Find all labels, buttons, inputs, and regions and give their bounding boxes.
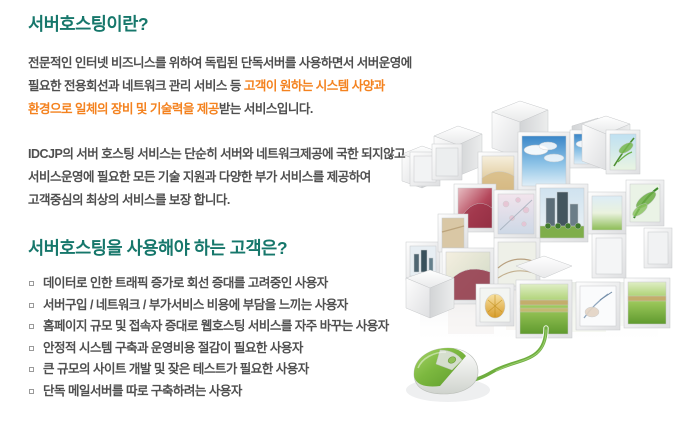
square-bullet-icon (29, 389, 34, 394)
intro-paragraph-1: 전문적인 인터넷 비즈니스를 위하여 독립된 단독서버를 사용하면서 서버운영에… (28, 52, 458, 121)
square-bullet-icon (29, 346, 34, 351)
cube-blank-far-right (644, 228, 672, 268)
intro-p1-line-3-plain: 받는 서비스입니다. (219, 102, 313, 116)
section-title-who-should-use: 서버호스팅을 사용해야 하는 고객은? (28, 238, 458, 259)
list-item-label: 홈페이지 규모 및 접속자 증대로 웹호스팅 서비스를 자주 바꾸는 사용자 (43, 319, 389, 333)
intro-p1-line-1: 전문적인 인터넷 비즈니스를 위하여 독립된 단독서버를 사용하면서 서버운영에 (28, 52, 458, 75)
list-item: 서버구입 / 네트워크 / 부가서비스 비용에 부담을 느끼는 사용자 (28, 295, 458, 317)
tile-cherry-blossom (494, 190, 538, 238)
intro-p2-line-1: IDCJP의 서버 호스팅 서비스는 단순히 서버와 네트워크제공에 국한 되지… (28, 143, 458, 166)
target-customer-list: 데이터로 인한 트래픽 증가로 회선 증대를 고려중인 사용자 서버구입 / 네… (28, 273, 458, 402)
intro-p2-line-3: 고객중심의 최상의 서비스를 보장 합니다. (28, 189, 458, 212)
tile-grass-right (624, 278, 670, 328)
list-item-label: 단독 메일서버를 따로 구축하려는 사용자 (43, 384, 242, 398)
list-item: 데이터로 인한 트래픽 증가로 회선 증대를 고려중인 사용자 (28, 273, 458, 295)
tile-blue-sky-clouds (518, 132, 570, 190)
list-item: 단독 메일서버를 따로 구축하려는 사용자 (28, 381, 458, 403)
intro-p1-line-2-plain: 필요한 전용회선과 네트워크 관리 서비스 등 (28, 79, 244, 93)
list-item-label: 서버구입 / 네트워크 / 부가서비스 비용에 부담을 느끼는 사용자 (43, 298, 348, 312)
server-hosting-info-page: 서버호스팅이란? 전문적인 인터넷 비즈니스를 위하여 독립된 단독서버를 사용… (0, 0, 680, 425)
intro-p1-line-2-accent: 고객이 원하는 시스템 사양과 (244, 79, 385, 93)
tile-palm-leaf (606, 130, 640, 174)
tile-tropical-leaves (626, 180, 664, 226)
square-bullet-icon (29, 281, 34, 286)
tile-hand-sketch-paper (576, 282, 620, 330)
tile-city-skyscrapers (536, 184, 588, 242)
list-item-label: 안정적 시스템 구축과 운영비용 절감이 필요한 사용자 (43, 341, 303, 355)
intro-p1-line-3-accent: 환경으로 일체의 장비 및 기술력을 제공 (28, 102, 219, 116)
list-item: 안정적 시스템 구축과 운영비용 절감이 필요한 사용자 (28, 338, 458, 360)
tile-green-field (588, 192, 626, 234)
square-bullet-icon (29, 367, 34, 372)
cube-blank-mid-right (592, 234, 626, 278)
page-title-what-is-server-hosting: 서버호스팅이란? (28, 14, 458, 35)
list-item-label: 데이터로 인한 트래픽 증가로 회선 증대를 고려중인 사용자 (43, 276, 328, 290)
intro-p1-line-2: 필요한 전용회선과 네트워크 관리 서비스 등 고객이 원하는 시스템 사양과 (28, 75, 458, 98)
list-item: 홈페이지 규모 및 접속자 증대로 웹호스팅 서비스를 자주 바꾸는 사용자 (28, 316, 458, 338)
text-content-column: 서버호스팅이란? 전문적인 인터넷 비즈니스를 위하여 독립된 단독서버를 사용… (28, 14, 458, 402)
intro-paragraph-2: IDCJP의 서버 호스팅 서비스는 단순히 서버와 네트워크제공에 국한 되지… (28, 143, 458, 212)
tile-golden-shell (476, 284, 514, 326)
square-bullet-icon (29, 324, 34, 329)
square-bullet-icon (29, 303, 34, 308)
list-item: 큰 규모의 사이트 개발 및 잦은 테스트가 필요한 사용자 (28, 359, 458, 381)
intro-p1-line-3: 환경으로 일체의 장비 및 기술력을 제공받는 서비스입니다. (28, 98, 458, 121)
intro-p2-line-2: 서비스운영에 필요한 모든 기술 지원과 다양한 부가 서비스를 제공하여 (28, 166, 458, 189)
list-item-label: 큰 규모의 사이트 개발 및 잦은 테스트가 필요한 사용자 (43, 362, 309, 376)
